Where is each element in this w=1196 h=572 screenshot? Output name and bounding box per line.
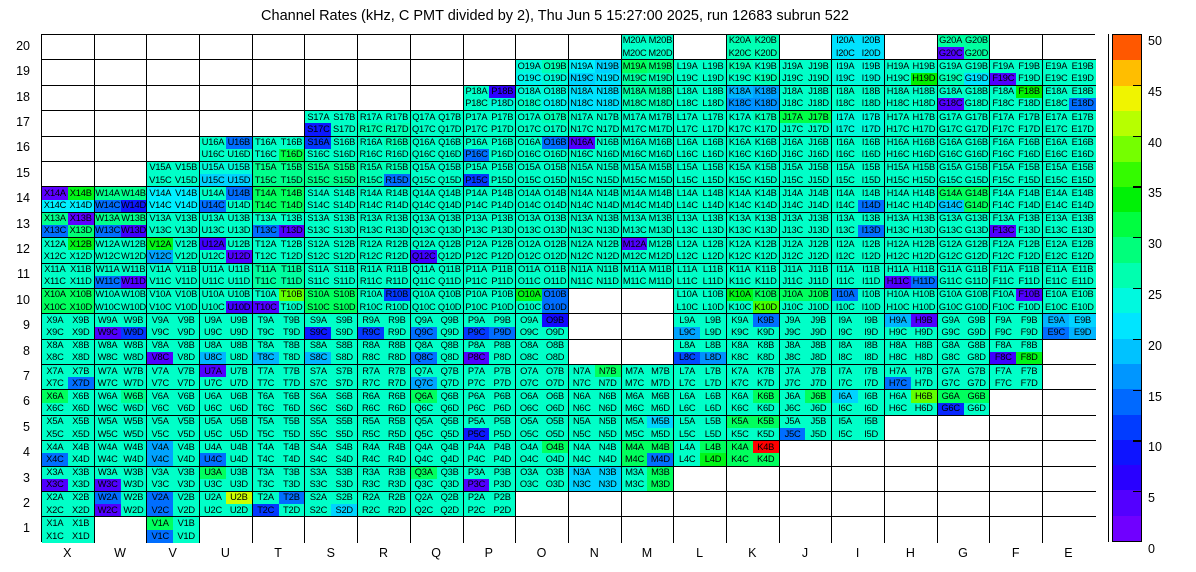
- channel-S4C[interactable]: S4C: [305, 453, 331, 465]
- channel-N2C[interactable]: [569, 504, 595, 516]
- channel-X14B[interactable]: X14B: [68, 187, 94, 199]
- channel-J10A[interactable]: J10A: [780, 289, 806, 301]
- channel-V19A[interactable]: [147, 60, 173, 72]
- channel-E11B[interactable]: E11B: [1069, 264, 1095, 276]
- channel-J2D[interactable]: [805, 504, 831, 516]
- channel-E11C[interactable]: E11C: [1043, 276, 1069, 288]
- module-N17[interactable]: N17AN17BN17CN17D: [569, 111, 622, 136]
- channel-F20C[interactable]: [990, 47, 1016, 59]
- channel-V13C[interactable]: V13C: [147, 225, 173, 237]
- channel-I11B[interactable]: I11B: [858, 264, 884, 276]
- channel-V8D[interactable]: V8D: [173, 352, 199, 364]
- channel-J12B[interactable]: J12B: [805, 238, 831, 250]
- channel-T20B[interactable]: [279, 35, 305, 47]
- channel-E1C[interactable]: [1043, 530, 1069, 543]
- channel-N14D[interactable]: N14D: [595, 200, 621, 212]
- module-M1[interactable]: [622, 517, 675, 542]
- channel-G14B[interactable]: G14B: [964, 187, 990, 199]
- channel-S12C[interactable]: S12C: [305, 250, 331, 262]
- channel-Q2D[interactable]: Q2D: [437, 504, 463, 516]
- channel-G12A[interactable]: G12A: [938, 238, 964, 250]
- channel-L14B[interactable]: L14B: [700, 187, 726, 199]
- channel-E10A[interactable]: E10A: [1043, 289, 1069, 301]
- channel-O9D[interactable]: O9D: [542, 327, 568, 339]
- channel-E6B[interactable]: [1069, 390, 1095, 402]
- module-I6[interactable]: I6AI6BI6CI6D: [832, 390, 885, 415]
- channel-V16A[interactable]: [147, 137, 173, 149]
- channel-N2A[interactable]: [569, 492, 595, 504]
- channel-J19D[interactable]: J19D: [805, 73, 831, 85]
- module-R4[interactable]: R4AR4BR4CR4D: [358, 441, 411, 466]
- module-O9[interactable]: O9AO9BO9CO9D: [516, 314, 569, 339]
- module-G10[interactable]: G10AG10BG10CG10D: [938, 289, 991, 314]
- channel-M19A[interactable]: M19A: [622, 60, 648, 72]
- channel-W5D[interactable]: W5D: [121, 428, 147, 440]
- channel-X10C[interactable]: X10C: [42, 301, 68, 313]
- channel-F11A[interactable]: F11A: [990, 264, 1016, 276]
- channel-F20D[interactable]: [1016, 47, 1042, 59]
- module-R11[interactable]: R11AR11BR11CR11D: [358, 264, 411, 289]
- channel-M15B[interactable]: M15B: [647, 162, 673, 174]
- channel-T16A[interactable]: T16A: [253, 137, 279, 149]
- channel-Q6A[interactable]: Q6A: [411, 390, 437, 402]
- channel-V3C[interactable]: V3C: [147, 479, 173, 491]
- channel-W5C[interactable]: W5C: [95, 428, 121, 440]
- channel-S20A[interactable]: [305, 35, 331, 47]
- channel-P14B[interactable]: P14B: [489, 187, 515, 199]
- module-R7[interactable]: R7AR7BR7CR7D: [358, 365, 411, 390]
- channel-L4D[interactable]: L4D: [700, 453, 726, 465]
- module-P5[interactable]: P5AP5BP5CP5D: [464, 416, 517, 441]
- channel-I19A[interactable]: I19A: [832, 60, 858, 72]
- channel-K8A[interactable]: K8A: [727, 340, 753, 352]
- module-J13[interactable]: J13AJ13BJ13CJ13D: [780, 213, 833, 238]
- channel-O11A[interactable]: O11A: [516, 264, 542, 276]
- channel-M19C[interactable]: M19C: [622, 73, 648, 85]
- module-U10[interactable]: U10AU10BU10CU10D: [200, 289, 253, 314]
- module-S1[interactable]: [305, 517, 358, 542]
- module-W19[interactable]: [95, 60, 148, 85]
- module-N12[interactable]: N12AN12BN12CN12D: [569, 238, 622, 263]
- channel-G14A[interactable]: G14A: [938, 187, 964, 199]
- channel-E5A[interactable]: [1043, 416, 1069, 428]
- channel-H2D[interactable]: [911, 504, 937, 516]
- channel-J11B[interactable]: J11B: [805, 264, 831, 276]
- channel-S9A[interactable]: S9A: [305, 314, 331, 326]
- channel-T12D[interactable]: T12D: [279, 250, 305, 262]
- channel-R20C[interactable]: [358, 47, 384, 59]
- channel-P5A[interactable]: P5A: [464, 416, 490, 428]
- channel-Q9D[interactable]: Q9D: [437, 327, 463, 339]
- channel-V14C[interactable]: V14C: [147, 200, 173, 212]
- channel-Q7C[interactable]: Q7C: [411, 377, 437, 389]
- channel-Q19C[interactable]: [411, 73, 437, 85]
- channel-V19D[interactable]: [173, 73, 199, 85]
- module-I17[interactable]: I17AI17BI17CI17D: [832, 111, 885, 136]
- channel-N14A[interactable]: N14A: [569, 187, 595, 199]
- channel-Q16A[interactable]: Q16A: [411, 137, 437, 149]
- channel-S11B[interactable]: S11B: [331, 264, 357, 276]
- channel-L13D[interactable]: L13D: [700, 225, 726, 237]
- channel-W19B[interactable]: [121, 60, 147, 72]
- channel-X18A[interactable]: [42, 86, 68, 98]
- module-T4[interactable]: T4AT4BT4CT4D: [253, 441, 306, 466]
- channel-R1B[interactable]: [384, 517, 410, 530]
- module-F9[interactable]: F9AF9BF9CF9D: [990, 314, 1043, 339]
- channel-O18C[interactable]: O18C: [516, 98, 542, 110]
- channel-Q1D[interactable]: [437, 530, 463, 543]
- channel-F15B[interactable]: F15B: [1016, 162, 1042, 174]
- module-W13[interactable]: W13AW13BW13CW13D: [95, 213, 148, 238]
- channel-T11B[interactable]: T11B: [279, 264, 305, 276]
- channel-X12A[interactable]: X12A: [42, 238, 68, 250]
- channel-U7B[interactable]: U7B: [226, 365, 252, 377]
- module-X5[interactable]: X5AX5BX5CX5D: [42, 416, 95, 441]
- module-F4[interactable]: [990, 441, 1043, 466]
- channel-E9B[interactable]: E9B: [1069, 314, 1095, 326]
- channel-I8C[interactable]: I8C: [832, 352, 858, 364]
- channel-I18B[interactable]: I18B: [858, 86, 884, 98]
- channel-E12B[interactable]: E12B: [1069, 238, 1095, 250]
- channel-R7C[interactable]: R7C: [358, 377, 384, 389]
- channel-P4D[interactable]: P4D: [489, 453, 515, 465]
- channel-L13B[interactable]: L13B: [700, 213, 726, 225]
- channel-T4A[interactable]: T4A: [253, 441, 279, 453]
- channel-O20A[interactable]: [516, 35, 542, 47]
- channel-H4D[interactable]: [911, 453, 937, 465]
- channel-P15C[interactable]: P15C: [464, 174, 490, 186]
- module-E8[interactable]: [1043, 340, 1096, 365]
- module-U7[interactable]: U7AU7BU7CU7D: [200, 365, 253, 390]
- module-F12[interactable]: F12AF12BF12CF12D: [990, 238, 1043, 263]
- channel-T2B[interactable]: T2B: [279, 492, 305, 504]
- channel-S19C[interactable]: [305, 73, 331, 85]
- channel-W3C[interactable]: W3C: [95, 479, 121, 491]
- channel-W11A[interactable]: W11A: [95, 264, 121, 276]
- module-F1[interactable]: [990, 517, 1043, 542]
- module-E10[interactable]: E10AE10BE10CE10D: [1043, 289, 1096, 314]
- channel-N1C[interactable]: [569, 530, 595, 543]
- channel-K17B[interactable]: K17B: [753, 111, 779, 123]
- channel-L12A[interactable]: L12A: [674, 238, 700, 250]
- channel-H6A[interactable]: H6A: [885, 390, 911, 402]
- channel-P18D[interactable]: P18D: [489, 98, 515, 110]
- channel-F1A[interactable]: [990, 517, 1016, 530]
- channel-E7C[interactable]: [1043, 377, 1069, 389]
- channel-F6A[interactable]: [990, 390, 1016, 402]
- module-E16[interactable]: E16AE16BE16CE16D: [1043, 137, 1096, 162]
- module-S3[interactable]: S3AS3BS3CS3D: [305, 467, 358, 492]
- channel-E9A[interactable]: E9A: [1043, 314, 1069, 326]
- channel-H20C[interactable]: [885, 47, 911, 59]
- channel-F1B[interactable]: [1016, 517, 1042, 530]
- channel-M16C[interactable]: M16C: [622, 149, 648, 161]
- channel-U16D[interactable]: U16D: [226, 149, 252, 161]
- channel-O8B[interactable]: O8B: [542, 340, 568, 352]
- channel-I16D[interactable]: I16D: [858, 149, 884, 161]
- channel-Q15C[interactable]: Q15C: [411, 174, 437, 186]
- channel-L20D[interactable]: [700, 47, 726, 59]
- channel-T8A[interactable]: T8A: [253, 340, 279, 352]
- channel-Q12A[interactable]: Q12A: [411, 238, 437, 250]
- module-Q5[interactable]: Q5AQ5BQ5CQ5D: [411, 416, 464, 441]
- module-S19[interactable]: [305, 60, 358, 85]
- channel-U5C[interactable]: U5C: [200, 428, 226, 440]
- channel-Q9C[interactable]: Q9C: [411, 327, 437, 339]
- channel-Q10A[interactable]: Q10A: [411, 289, 437, 301]
- channel-M13D[interactable]: M13D: [647, 225, 673, 237]
- channel-P7A[interactable]: P7A: [464, 365, 490, 377]
- channel-O5B[interactable]: O5B: [542, 416, 568, 428]
- channel-K12B[interactable]: K12B: [753, 238, 779, 250]
- module-W11[interactable]: W11AW11BW11CW11D: [95, 264, 148, 289]
- channel-N6A[interactable]: N6A: [569, 390, 595, 402]
- channel-R20B[interactable]: [384, 35, 410, 47]
- module-F18[interactable]: F18AF18BF18CF18D: [990, 86, 1043, 111]
- channel-N17C[interactable]: N17C: [569, 123, 595, 135]
- channel-X5B[interactable]: X5B: [68, 416, 94, 428]
- channel-F14A[interactable]: F14A: [990, 187, 1016, 199]
- channel-N5B[interactable]: N5B: [595, 416, 621, 428]
- module-Q7[interactable]: Q7AQ7BQ7CQ7D: [411, 365, 464, 390]
- channel-K12C[interactable]: K12C: [727, 250, 753, 262]
- channel-I18D[interactable]: I18D: [858, 98, 884, 110]
- channel-V6B[interactable]: V6B: [173, 390, 199, 402]
- channel-V12B[interactable]: V12B: [173, 238, 199, 250]
- channel-W4A[interactable]: W4A: [95, 441, 121, 453]
- channel-W9D[interactable]: W9D: [121, 327, 147, 339]
- channel-N18A[interactable]: N18A: [569, 86, 595, 98]
- channel-F18A[interactable]: F18A: [990, 86, 1016, 98]
- channel-F13B[interactable]: F13B: [1016, 213, 1042, 225]
- channel-E18A[interactable]: E18A: [1043, 86, 1069, 98]
- channel-M7A[interactable]: M7A: [622, 365, 648, 377]
- channel-G4B[interactable]: [964, 441, 990, 453]
- channel-G6C[interactable]: G6C: [938, 403, 964, 415]
- channel-G9D[interactable]: G9D: [964, 327, 990, 339]
- channel-R2C[interactable]: R2C: [358, 504, 384, 516]
- channel-T9C[interactable]: T9C: [253, 327, 279, 339]
- module-G16[interactable]: G16AG16BG16CG16D: [938, 137, 991, 162]
- channel-E10C[interactable]: E10C: [1043, 301, 1069, 313]
- channel-X9A[interactable]: X9A: [42, 314, 68, 326]
- channel-E19A[interactable]: E19A: [1043, 60, 1069, 72]
- channel-H3A[interactable]: [885, 467, 911, 479]
- channel-W17D[interactable]: [121, 123, 147, 135]
- channel-K2B[interactable]: [753, 492, 779, 504]
- channel-W8D[interactable]: W8D: [121, 352, 147, 364]
- channel-E2A[interactable]: [1043, 492, 1069, 504]
- channel-V15C[interactable]: V15C: [147, 174, 173, 186]
- channel-L14D[interactable]: L14D: [700, 200, 726, 212]
- channel-L5C[interactable]: L5C: [674, 428, 700, 440]
- channel-P4A[interactable]: P4A: [464, 441, 490, 453]
- channel-N10D[interactable]: [595, 301, 621, 313]
- module-N14[interactable]: N14AN14BN14CN14D: [569, 187, 622, 212]
- channel-L10B[interactable]: L10B: [700, 289, 726, 301]
- channel-Q4A[interactable]: Q4A: [411, 441, 437, 453]
- channel-T19B[interactable]: [279, 60, 305, 72]
- module-G5[interactable]: [938, 416, 991, 441]
- module-Q9[interactable]: Q9AQ9BQ9CQ9D: [411, 314, 464, 339]
- channel-Q8A[interactable]: Q8A: [411, 340, 437, 352]
- channel-Q6D[interactable]: Q6D: [437, 403, 463, 415]
- channel-F17D[interactable]: F17D: [1016, 123, 1042, 135]
- channel-S9D[interactable]: S9D: [331, 327, 357, 339]
- channel-E1B[interactable]: [1069, 517, 1095, 530]
- module-L9[interactable]: L9AL9BL9CL9D: [674, 314, 727, 339]
- module-V9[interactable]: V9AV9BV9CV9D: [147, 314, 200, 339]
- channel-M14D[interactable]: M14D: [647, 200, 673, 212]
- channel-H4A[interactable]: [885, 441, 911, 453]
- channel-N17B[interactable]: N17B: [595, 111, 621, 123]
- module-X16[interactable]: [42, 137, 95, 162]
- channel-R9B[interactable]: R9B: [384, 314, 410, 326]
- channel-I3B[interactable]: [858, 467, 884, 479]
- module-O4[interactable]: O4AO4BO4CO4D: [516, 441, 569, 466]
- channel-R15D[interactable]: R15D: [384, 174, 410, 186]
- channel-X15C[interactable]: [42, 174, 68, 186]
- channel-U1C[interactable]: [200, 530, 226, 543]
- channel-H11C[interactable]: H11C: [885, 276, 911, 288]
- module-U6[interactable]: U6AU6BU6CU6D: [200, 390, 253, 415]
- module-F15[interactable]: F15AF15BF15CF15D: [990, 162, 1043, 187]
- module-X8[interactable]: X8AX8BX8CX8D: [42, 340, 95, 365]
- module-J18[interactable]: J18AJ18BJ18CJ18D: [780, 86, 833, 111]
- channel-T2D[interactable]: T2D: [279, 504, 305, 516]
- channel-L18D[interactable]: L18D: [700, 98, 726, 110]
- module-W16[interactable]: [95, 137, 148, 162]
- channel-U7A[interactable]: U7A: [200, 365, 226, 377]
- channel-S8A[interactable]: S8A: [305, 340, 331, 352]
- channel-I15A[interactable]: I15A: [832, 162, 858, 174]
- channel-W15D[interactable]: [121, 174, 147, 186]
- module-M10[interactable]: [622, 289, 675, 314]
- channel-F13A[interactable]: F13A: [990, 213, 1016, 225]
- channel-X5C[interactable]: X5C: [42, 428, 68, 440]
- channel-M13A[interactable]: M13A: [622, 213, 648, 225]
- module-X7[interactable]: X7AX7BX7CX7D: [42, 365, 95, 390]
- channel-E17C[interactable]: E17C: [1043, 123, 1069, 135]
- module-X11[interactable]: X11AX11BX11CX11D: [42, 264, 95, 289]
- channel-P20D[interactable]: [489, 47, 515, 59]
- channel-P7C[interactable]: P7C: [464, 377, 490, 389]
- channel-I1A[interactable]: [832, 517, 858, 530]
- channel-W5B[interactable]: W5B: [121, 416, 147, 428]
- channel-U8C[interactable]: U8C: [200, 352, 226, 364]
- channel-P6A[interactable]: P6A: [464, 390, 490, 402]
- channel-I8B[interactable]: I8B: [858, 340, 884, 352]
- channel-U8D[interactable]: U8D: [226, 352, 252, 364]
- module-I4[interactable]: [832, 441, 885, 466]
- channel-K13D[interactable]: K13D: [753, 225, 779, 237]
- module-N1[interactable]: [569, 517, 622, 542]
- channel-G11A[interactable]: G11A: [938, 264, 964, 276]
- module-V4[interactable]: V4AV4BV4CV4D: [147, 441, 200, 466]
- channel-X9B[interactable]: X9B: [68, 314, 94, 326]
- module-W1[interactable]: [95, 517, 148, 542]
- channel-L13A[interactable]: L13A: [674, 213, 700, 225]
- channel-N8B[interactable]: [595, 340, 621, 352]
- channel-E6C[interactable]: [1043, 403, 1069, 415]
- module-I20[interactable]: I20AI20BI20CI20D: [832, 35, 885, 60]
- channel-W7C[interactable]: W7C: [95, 377, 121, 389]
- channel-U17B[interactable]: [226, 111, 252, 123]
- module-U13[interactable]: U13AU13BU13CU13D: [200, 213, 253, 238]
- channel-M1B[interactable]: [647, 517, 673, 530]
- channel-H2A[interactable]: [885, 492, 911, 504]
- module-N16[interactable]: N16AN16BN16CN16D: [569, 137, 622, 162]
- channel-J9B[interactable]: J9B: [805, 314, 831, 326]
- channel-E8A[interactable]: [1043, 340, 1069, 352]
- channel-I5D[interactable]: I5D: [858, 428, 884, 440]
- channel-I15B[interactable]: I15B: [858, 162, 884, 174]
- channel-L1A[interactable]: [674, 517, 700, 530]
- module-H5[interactable]: [885, 416, 938, 441]
- channel-J18C[interactable]: J18C: [780, 98, 806, 110]
- channel-Q11B[interactable]: Q11B: [437, 264, 463, 276]
- channel-K9D[interactable]: K9D: [753, 327, 779, 339]
- channel-J15D[interactable]: J15D: [805, 174, 831, 186]
- channel-W16A[interactable]: [95, 137, 121, 149]
- channel-T20D[interactable]: [279, 47, 305, 59]
- channel-I12A[interactable]: I12A: [832, 238, 858, 250]
- channel-I14B[interactable]: I14B: [858, 187, 884, 199]
- module-S4[interactable]: S4AS4BS4CS4D: [305, 441, 358, 466]
- channel-W20D[interactable]: [121, 47, 147, 59]
- channel-L6D[interactable]: L6D: [700, 403, 726, 415]
- channel-J9C[interactable]: J9C: [780, 327, 806, 339]
- channel-E4D[interactable]: [1069, 453, 1095, 465]
- module-M8[interactable]: [622, 340, 675, 365]
- channel-U14D[interactable]: U14D: [226, 200, 252, 212]
- module-I3[interactable]: [832, 467, 885, 492]
- channel-F16D[interactable]: F16D: [1016, 149, 1042, 161]
- module-L13[interactable]: L13AL13BL13CL13D: [674, 213, 727, 238]
- channel-V2C[interactable]: V2C: [147, 504, 173, 516]
- channel-T13B[interactable]: T13B: [279, 213, 305, 225]
- channel-F8B[interactable]: F8B: [1016, 340, 1042, 352]
- channel-H14A[interactable]: H14A: [885, 187, 911, 199]
- module-S5[interactable]: S5AS5BS5CS5D: [305, 416, 358, 441]
- channel-M8A[interactable]: [622, 340, 648, 352]
- channel-U10A[interactable]: U10A: [200, 289, 226, 301]
- channel-M15C[interactable]: M15C: [622, 174, 648, 186]
- channel-L4C[interactable]: L4C: [674, 453, 700, 465]
- channel-U20D[interactable]: [226, 47, 252, 59]
- channel-W17B[interactable]: [121, 111, 147, 123]
- channel-U10B[interactable]: U10B: [226, 289, 252, 301]
- channel-S13B[interactable]: S13B: [331, 213, 357, 225]
- channel-S6A[interactable]: S6A: [305, 390, 331, 402]
- channel-O5C[interactable]: O5C: [516, 428, 542, 440]
- channel-P6D[interactable]: P6D: [489, 403, 515, 415]
- channel-O8C[interactable]: O8C: [516, 352, 542, 364]
- channel-E12A[interactable]: E12A: [1043, 238, 1069, 250]
- channel-R10A[interactable]: R10A: [358, 289, 384, 301]
- module-N13[interactable]: N13AN13BN13CN13D: [569, 213, 622, 238]
- channel-S14C[interactable]: S14C: [305, 200, 331, 212]
- channel-O12A[interactable]: O12A: [516, 238, 542, 250]
- channel-V1A[interactable]: V1A: [147, 517, 173, 530]
- channel-S10D[interactable]: S10D: [331, 301, 357, 313]
- channel-J16A[interactable]: J16A: [780, 137, 806, 149]
- channel-V17C[interactable]: [147, 123, 173, 135]
- channel-H18B[interactable]: H18B: [911, 86, 937, 98]
- channel-K20D[interactable]: K20D: [753, 47, 779, 59]
- module-M5[interactable]: M5AM5BM5CM5D: [622, 416, 675, 441]
- channel-M5B[interactable]: M5B: [647, 416, 673, 428]
